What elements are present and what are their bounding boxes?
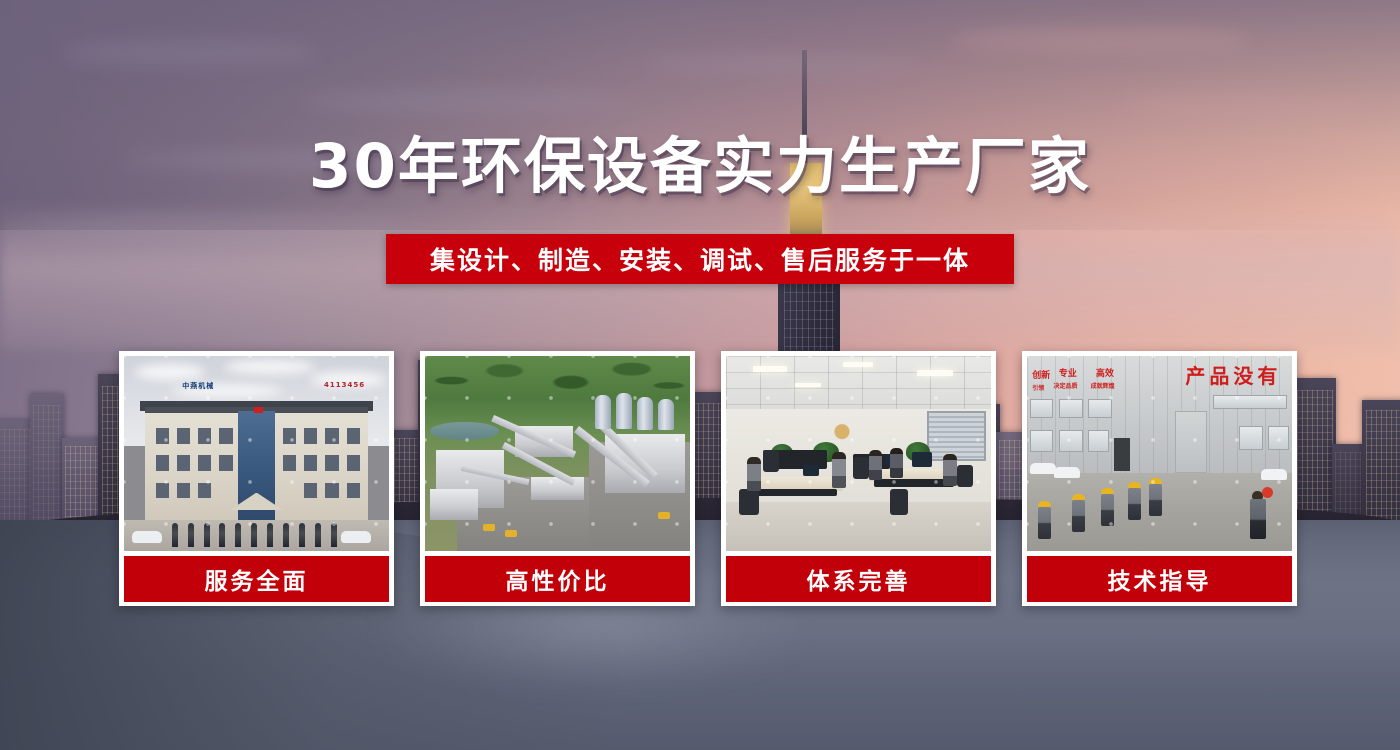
feature-card-row: 中燕机械 4113456 服务全面 xyxy=(119,351,1281,606)
cloud-shape xyxy=(300,90,630,112)
building-phone-number: 4113456 xyxy=(324,381,365,389)
subtitle-text: 集设计、制造、安装、调试、售后服务于一体 xyxy=(430,241,970,277)
feature-card[interactable]: 产品没有 创新 引领 专业 决定品质 高效 成就辉煌 xyxy=(1022,351,1297,606)
building-sign-text: 中燕机械 xyxy=(182,381,214,391)
subtitle-bar: 集设计、制造、安装、调试、售后服务于一体 xyxy=(386,234,1014,284)
cloud-shape xyxy=(60,40,320,66)
factory-banner-text: 产品没有 xyxy=(1185,360,1281,389)
page-title: 30年环保设备实力生产厂家 xyxy=(0,132,1400,202)
instructor-figure xyxy=(1250,491,1266,539)
card-caption-bar: 体系完善 xyxy=(726,556,991,602)
card-caption-bar: 高性价比 xyxy=(425,556,690,602)
feature-card[interactable]: 中燕机械 4113456 服务全面 xyxy=(119,351,394,606)
card-caption-text: 体系完善 xyxy=(807,562,911,596)
card-caption-bar: 技术指导 xyxy=(1027,556,1292,602)
card-photo-worker-training: 产品没有 创新 引领 专业 决定品质 高效 成就辉煌 xyxy=(1027,356,1292,551)
card-caption-text: 服务全面 xyxy=(205,562,309,596)
card-photo-aerial-plant xyxy=(425,356,690,551)
card-photo-office-interior xyxy=(726,356,991,551)
card-caption-text: 高性价比 xyxy=(506,562,610,596)
wall-decoration xyxy=(824,416,860,442)
feature-card[interactable]: 高性价比 xyxy=(420,351,695,606)
card-caption-text: 技术指导 xyxy=(1108,562,1212,596)
cloud-shape xyxy=(950,28,1250,52)
promo-banner: 30年环保设备实力生产厂家 集设计、制造、安装、调试、售后服务于一体 xyxy=(0,0,1400,750)
cloud-shape xyxy=(640,55,920,73)
card-caption-bar: 服务全面 xyxy=(124,556,389,602)
feature-card[interactable]: 体系完善 xyxy=(721,351,996,606)
card-photo-office-building: 中燕机械 4113456 xyxy=(124,356,389,551)
cloud-shape xyxy=(1120,95,1380,115)
